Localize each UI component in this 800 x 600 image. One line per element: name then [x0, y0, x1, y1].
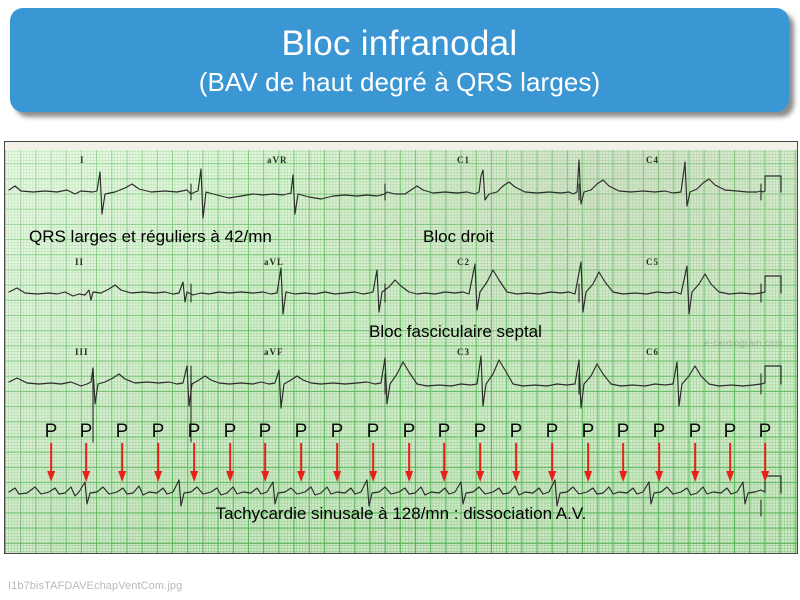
p-wave-marker: P	[224, 422, 237, 483]
p-wave-marker: P	[45, 422, 58, 483]
ecg-panel: I aVR C1 C4 II aVL C2 C5 III aVF C3 C6 Q…	[4, 141, 798, 554]
down-arrow-icon	[154, 443, 163, 483]
down-arrow-icon	[190, 443, 199, 483]
down-arrow-icon	[297, 443, 306, 483]
p-wave-marker: P	[80, 422, 93, 483]
title-banner: Bloc infranodal (BAV de haut degré à QRS…	[10, 8, 789, 112]
down-arrow-icon	[82, 443, 91, 483]
p-wave-label: P	[295, 422, 308, 441]
p-wave-marker: P	[116, 422, 129, 483]
p-wave-label: P	[367, 422, 380, 441]
down-arrow-icon	[584, 443, 593, 483]
p-wave-marker: P	[438, 422, 451, 483]
down-arrow-icon	[548, 443, 557, 483]
p-wave-marker: P	[403, 422, 416, 483]
down-arrow-icon	[440, 443, 449, 483]
p-wave-marker: P	[759, 422, 772, 483]
p-wave-marker-layer: P P P P P P P P P P P P P P P P P P P P …	[5, 142, 797, 553]
p-wave-marker: P	[510, 422, 523, 483]
p-wave-label: P	[188, 422, 201, 441]
p-wave-marker: P	[546, 422, 559, 483]
down-arrow-icon	[369, 443, 378, 483]
p-wave-marker: P	[474, 422, 487, 483]
p-wave-marker: P	[331, 422, 344, 483]
p-wave-marker: P	[295, 422, 308, 483]
p-wave-label: P	[546, 422, 559, 441]
p-wave-label: P	[259, 422, 272, 441]
p-wave-marker: P	[689, 422, 702, 483]
p-wave-label: P	[582, 422, 595, 441]
p-wave-label: P	[438, 422, 451, 441]
p-wave-marker: P	[152, 422, 165, 483]
down-arrow-icon	[619, 443, 628, 483]
p-wave-label: P	[759, 422, 772, 441]
down-arrow-icon	[476, 443, 485, 483]
p-wave-label: P	[116, 422, 129, 441]
p-wave-marker: P	[653, 422, 666, 483]
down-arrow-icon	[512, 443, 521, 483]
down-arrow-icon	[333, 443, 342, 483]
p-wave-marker: P	[724, 422, 737, 483]
down-arrow-icon	[226, 443, 235, 483]
p-wave-label: P	[45, 422, 58, 441]
down-arrow-icon	[726, 443, 735, 483]
p-wave-marker: P	[617, 422, 630, 483]
p-wave-label: P	[403, 422, 416, 441]
p-wave-label: P	[474, 422, 487, 441]
p-wave-label: P	[331, 422, 344, 441]
p-wave-label: P	[152, 422, 165, 441]
p-wave-label: P	[224, 422, 237, 441]
p-wave-marker: P	[582, 422, 595, 483]
down-arrow-icon	[261, 443, 270, 483]
p-wave-marker: P	[188, 422, 201, 483]
p-wave-label: P	[510, 422, 523, 441]
footer-filename: I1b7bisTAFDAVEchapVentCom.jpg	[8, 580, 182, 592]
page-title: Bloc infranodal	[281, 23, 517, 65]
p-wave-label: P	[80, 422, 93, 441]
down-arrow-icon	[691, 443, 700, 483]
p-wave-label: P	[653, 422, 666, 441]
p-wave-label: P	[724, 422, 737, 441]
down-arrow-icon	[405, 443, 414, 483]
down-arrow-icon	[118, 443, 127, 483]
p-wave-marker: P	[367, 422, 380, 483]
p-wave-marker: P	[259, 422, 272, 483]
down-arrow-icon	[655, 443, 664, 483]
p-wave-label: P	[617, 422, 630, 441]
page-subtitle: (BAV de haut degré à QRS larges)	[199, 66, 601, 98]
down-arrow-icon	[761, 443, 770, 483]
down-arrow-icon	[47, 443, 56, 483]
p-wave-label: P	[689, 422, 702, 441]
